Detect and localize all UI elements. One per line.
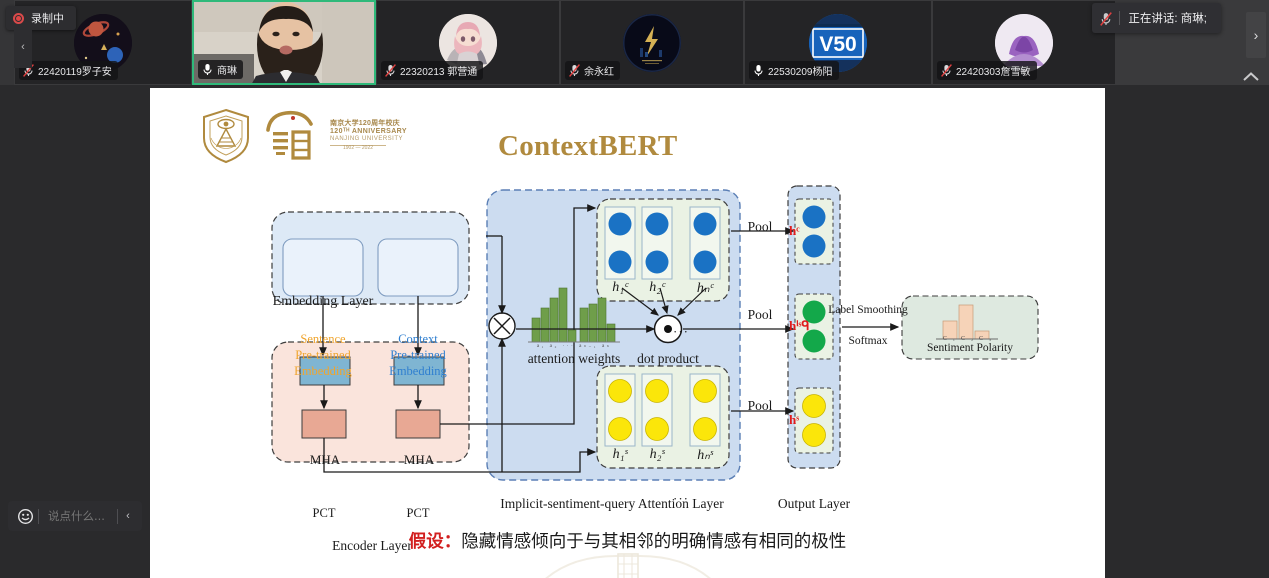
participant-name: 商琳 <box>217 62 237 77</box>
active-speaker-toast: 正在讲话: 商琳; <box>1092 3 1221 33</box>
anniversary-en-primary: 120ᵀᴴ ANNIVERSARY <box>330 128 407 136</box>
pct-right-label: PCT <box>407 506 430 521</box>
speaking-label: 正在讲话: 商琳; <box>1128 10 1207 26</box>
context-state-2-label: h₂ᶜ <box>649 280 665 296</box>
participant-name: 22530209杨阳 <box>768 63 833 78</box>
page-title: ContextBERT <box>498 130 678 163</box>
anniversary-cn: 南京大学120周年校庆 <box>330 120 407 128</box>
context-ellipsis: ··· <box>673 324 689 340</box>
video-conference-window: 22420119罗子安 <box>0 0 1269 578</box>
sentence-state-1-label: h₁ˢ <box>613 447 628 463</box>
nju-shield-icon <box>198 108 254 164</box>
emoji-picker-button[interactable] <box>12 503 38 529</box>
chat-collapse-button[interactable]: ‹ <box>118 503 138 529</box>
participant-name: 22320213 郭营通 <box>400 63 477 78</box>
nju-120-anniversary-mark-icon <box>262 108 318 164</box>
mha-left-label: MHA <box>310 452 340 468</box>
svg-text:V50: V50 <box>819 33 856 56</box>
chevron-right-icon: › <box>1254 27 1259 43</box>
anniversary-years: 1902 — 2022 <box>330 145 386 152</box>
hs-vector-label: hˢ <box>789 412 799 428</box>
participant-name: 22420119罗子安 <box>38 63 112 78</box>
output-layer-title: Output Layer <box>778 496 850 512</box>
pct-left-label: PCT <box>313 506 336 521</box>
participant-nameplate: 22530209杨阳 <box>749 61 839 80</box>
mic-muted-icon <box>569 64 580 77</box>
attention-weight-ticks: a₁ a₂ ··· aₙ₋₁ aₙ <box>537 343 612 349</box>
participant-nameplate: 22420119罗子安 <box>19 61 118 80</box>
anniversary-en-secondary: NANJING UNIVERSITY <box>330 136 407 143</box>
attention-layer-title: Implicit-sentiment-query Attention Layer <box>500 496 723 512</box>
caption-body: 隐藏情感倾向于与其相邻的明确情感有相同的极性 <box>461 532 846 552</box>
participant-nameplate: 22320213 郭营通 <box>381 61 483 80</box>
filmstrip-collapse-button[interactable] <box>1243 70 1259 84</box>
participant-nameplate: 余永红 <box>565 61 620 80</box>
hisq-vector-label: hⁱˢᑫ <box>789 318 810 334</box>
embedding-layer-title: Embedding Layer <box>273 294 374 310</box>
mic-muted-icon <box>385 64 396 77</box>
smiley-icon <box>18 509 33 524</box>
architecture-diagram: Embedding Layer Sentence Pre-trained Emb… <box>150 176 1105 506</box>
mic-on-icon <box>753 64 764 77</box>
recording-collapse-button[interactable]: ‹ <box>14 26 32 68</box>
sentence-state-2-label: h₂ˢ <box>650 447 665 463</box>
university-logo-group: 南京大学120周年校庆 120ᵀᴴ ANNIVERSARY NANJING UN… <box>198 108 407 164</box>
participant-name: 22420303詹雪敏 <box>956 63 1031 78</box>
sentence-state-n-label: hₙˢ <box>697 447 713 464</box>
slide-footer-watermark <box>538 550 718 578</box>
pool-label-context: Pool <box>748 219 773 235</box>
pool-label-sentence: Pool <box>748 398 773 414</box>
mic-on-icon <box>202 63 213 76</box>
recording-label: 录制中 <box>31 10 64 26</box>
participant-tile[interactable]: 余永红 <box>560 0 744 85</box>
participant-nameplate: 22420303詹雪敏 <box>937 61 1037 80</box>
shared-screen-stage: 南京大学120周年校庆 120ᵀᴴ ANNIVERSARY NANJING UN… <box>0 85 1269 578</box>
participant-name: 余永红 <box>584 63 614 78</box>
participant-tile[interactable]: V50 22530209杨阳 <box>744 0 932 85</box>
participant-tile[interactable]: 22420303詹雪敏 <box>932 0 1116 85</box>
filmstrip-next-button[interactable]: › <box>1246 12 1266 58</box>
softmax-edge-label: Softmax <box>849 335 888 347</box>
chevron-up-icon <box>1243 72 1259 81</box>
mic-muted-icon <box>1100 12 1111 25</box>
record-dot-icon <box>13 13 24 24</box>
mic-muted-icon <box>941 64 952 77</box>
chat-message-input[interactable] <box>39 509 117 523</box>
label-smoothing-edge-label: Label Smoothing <box>828 304 908 316</box>
chevron-left-icon: ‹ <box>126 510 130 522</box>
context-state-1-label: h₁ᶜ <box>612 280 628 296</box>
attention-weights-label: attention weights <box>528 351 621 367</box>
mha-right-label: MHA <box>404 452 434 468</box>
sentence-embedding-box-label: Sentence Pre-trained Embedding <box>294 331 352 379</box>
participant-tile[interactable]: 22320213 郭营通 <box>376 0 560 85</box>
participant-filmstrip: 22420119罗子安 <box>0 0 1269 85</box>
dot-product-label: dot product <box>637 351 699 367</box>
chevron-left-icon: ‹ <box>21 41 25 53</box>
presentation-slide: 南京大学120周年校庆 120ᵀᴴ ANNIVERSARY NANJING UN… <box>150 88 1105 578</box>
toast-divider <box>1119 11 1120 25</box>
chat-input-bar[interactable]: ‹ <box>8 501 142 531</box>
participant-nameplate: 商琳 <box>198 60 243 79</box>
dark-emblem-avatar-icon <box>623 14 681 72</box>
context-state-n-label: hₙᶜ <box>697 280 713 297</box>
anniversary-text-block: 南京大学120周年校庆 120ᵀᴴ ANNIVERSARY NANJING UN… <box>330 120 407 152</box>
context-embedding-box-label: Context Pre-trained Embedding <box>389 331 447 379</box>
hc-vector-label: hᶜ <box>789 223 800 239</box>
caption-hypothesis-prefix: 假设： <box>409 532 462 552</box>
sentiment-polarity-title: Sentiment Polarity <box>927 342 1013 354</box>
pool-label-query: Pool <box>748 307 773 323</box>
participant-tile-active-speaker[interactable]: 商琳 <box>192 0 376 85</box>
